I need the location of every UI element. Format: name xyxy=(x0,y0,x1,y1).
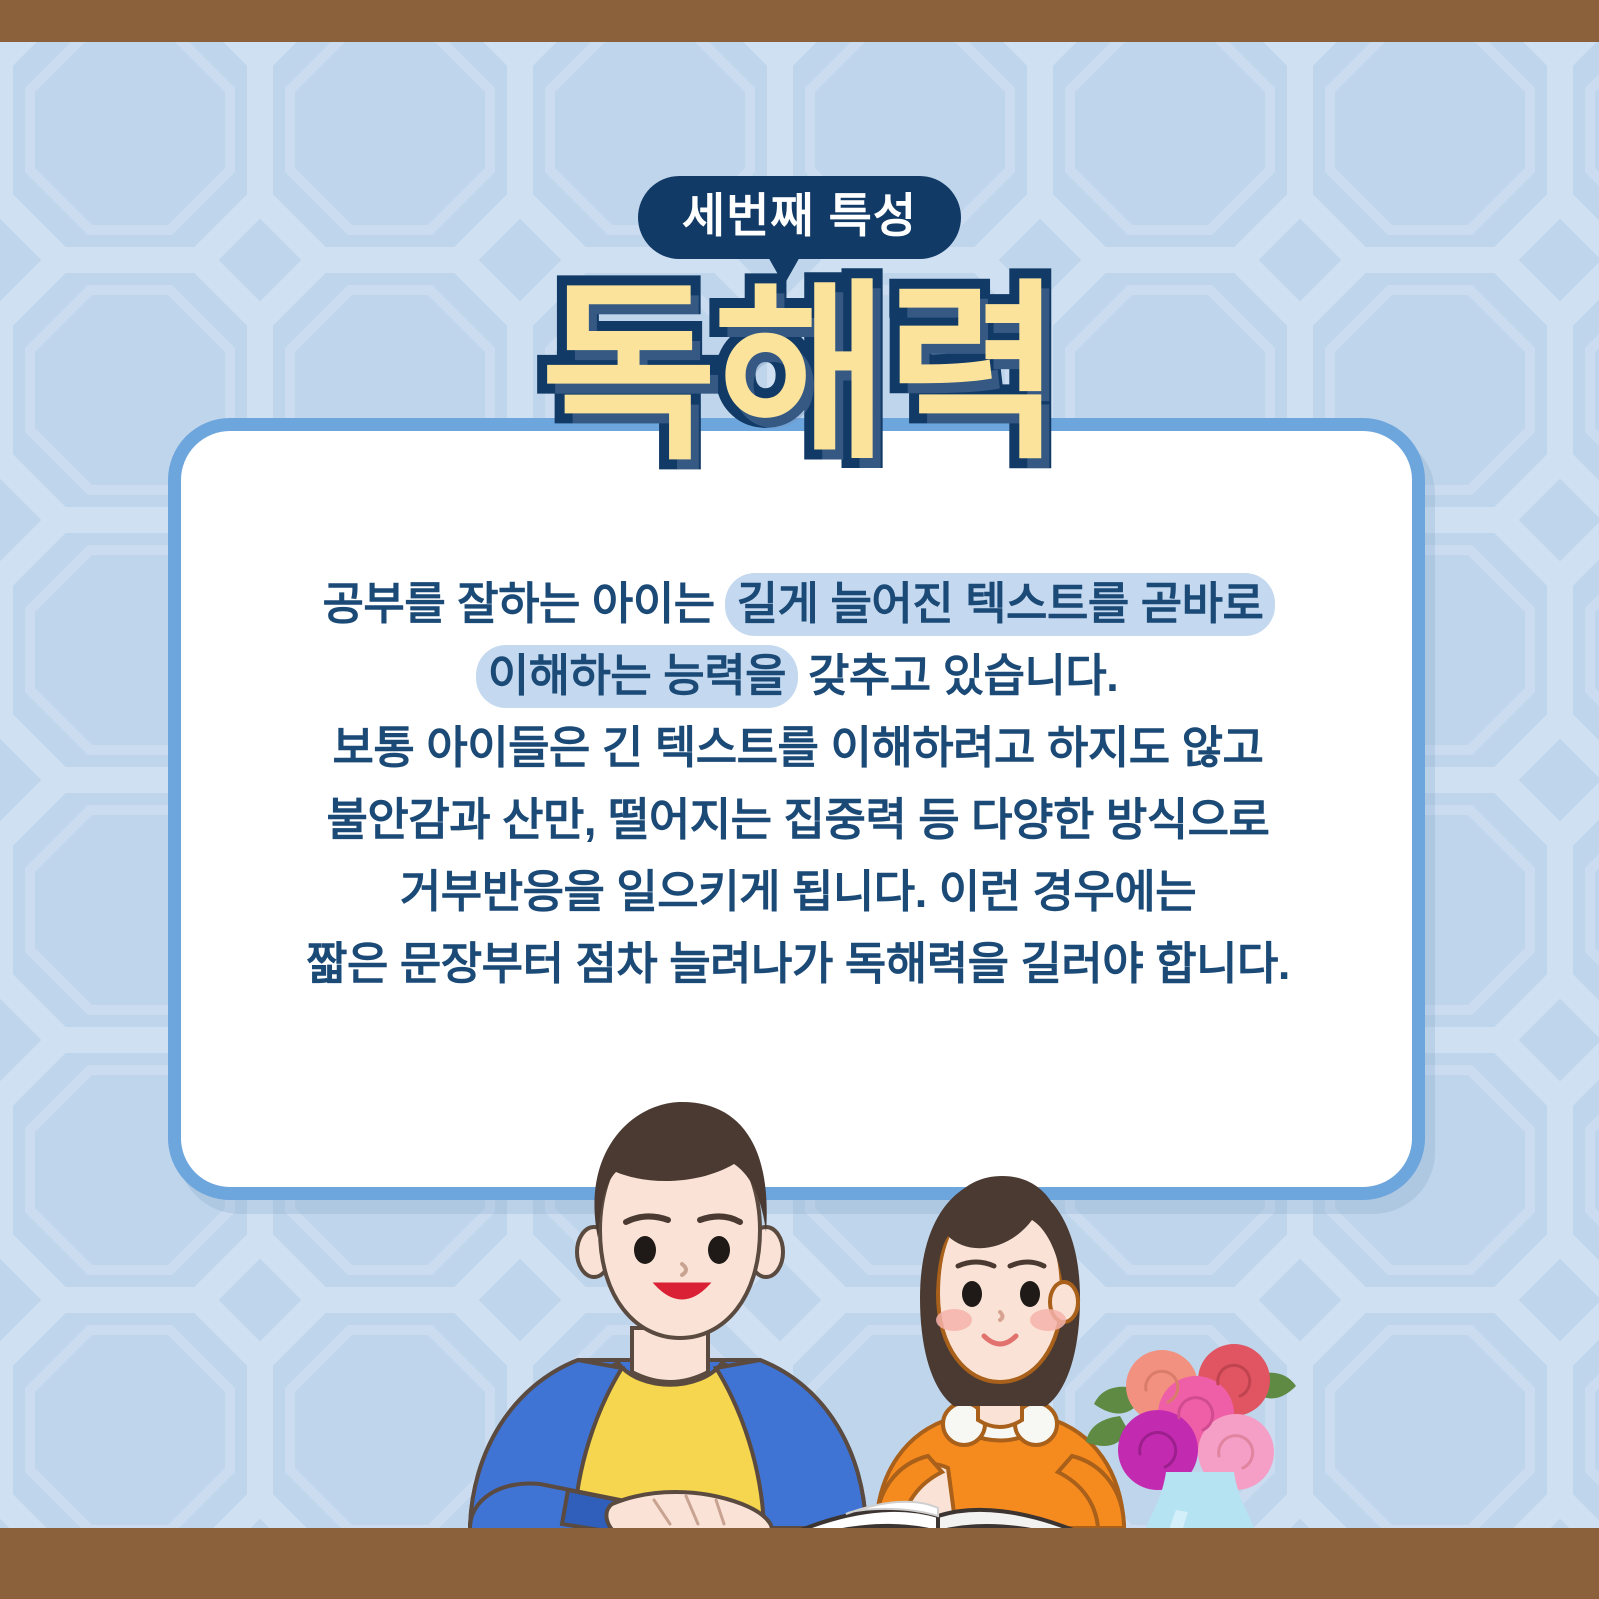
top-brown-bar xyxy=(0,0,1599,42)
man-eye-left xyxy=(634,1236,656,1264)
badge-label: 세번째 특성 xyxy=(682,189,917,242)
poster-canvas: 세번째 특성 독해력 공부를 잘하는 아이는 길게 늘어진 텍스트를 곧바로이해… xyxy=(0,0,1599,1599)
bottom-brown-bar xyxy=(0,1528,1599,1599)
body-text-block: 공부를 잘하는 아이는 길게 늘어진 텍스트를 곧바로이해하는 능력을 갖추고 … xyxy=(198,568,1398,1000)
plain-phrase: 불안감과 산만, 떨어지는 집중력 등 다양한 방식으로 xyxy=(327,794,1270,845)
girl-blush-left xyxy=(936,1309,972,1331)
badge-container: 세번째 특성 xyxy=(0,176,1599,259)
body-text-line-3: 보통 아이들은 긴 텍스트를 이해하려고 하지도 않고 xyxy=(198,712,1398,784)
plain-phrase: 보통 아이들은 긴 텍스트를 이해하려고 하지도 않고 xyxy=(333,722,1264,773)
body-text-line-1: 공부를 잘하는 아이는 길게 늘어진 텍스트를 곧바로 xyxy=(198,568,1398,640)
man-eye-right xyxy=(708,1236,730,1264)
body-text-line-4: 불안감과 산만, 떨어지는 집중력 등 다양한 방식으로 xyxy=(198,784,1398,856)
highlighted-phrase: 길게 늘어진 텍스트를 곧바로 xyxy=(725,573,1276,636)
body-text-line-5: 거부반응을 일으키게 됩니다. 이런 경우에는 xyxy=(198,856,1398,928)
girl-blush-right xyxy=(1030,1309,1066,1331)
girl-eye-right xyxy=(1020,1281,1040,1307)
plain-phrase: 갖추고 있습니다. xyxy=(796,650,1118,701)
body-text-line-6: 짧은 문장부터 점차 늘려나가 독해력을 길러야 합니다. xyxy=(198,928,1398,1000)
plain-phrase: 거부반응을 일으키게 됩니다. 이런 경우에는 xyxy=(400,866,1196,917)
body-text-line-2: 이해하는 능력을 갖추고 있습니다. xyxy=(198,640,1398,712)
figure-man xyxy=(470,1102,866,1536)
plain-phrase: 짧은 문장부터 점차 늘려나가 독해력을 길러야 합니다. xyxy=(306,938,1290,989)
plain-phrase: 공부를 잘하는 아이는 xyxy=(323,578,727,629)
badge-tail-icon xyxy=(767,255,801,285)
figure-girl xyxy=(876,1176,1124,1528)
illustration-scene xyxy=(0,1080,1599,1599)
girl-eye-left xyxy=(962,1281,982,1307)
highlighted-phrase: 이해하는 능력을 xyxy=(476,645,798,708)
section-badge: 세번째 특성 xyxy=(638,176,961,259)
